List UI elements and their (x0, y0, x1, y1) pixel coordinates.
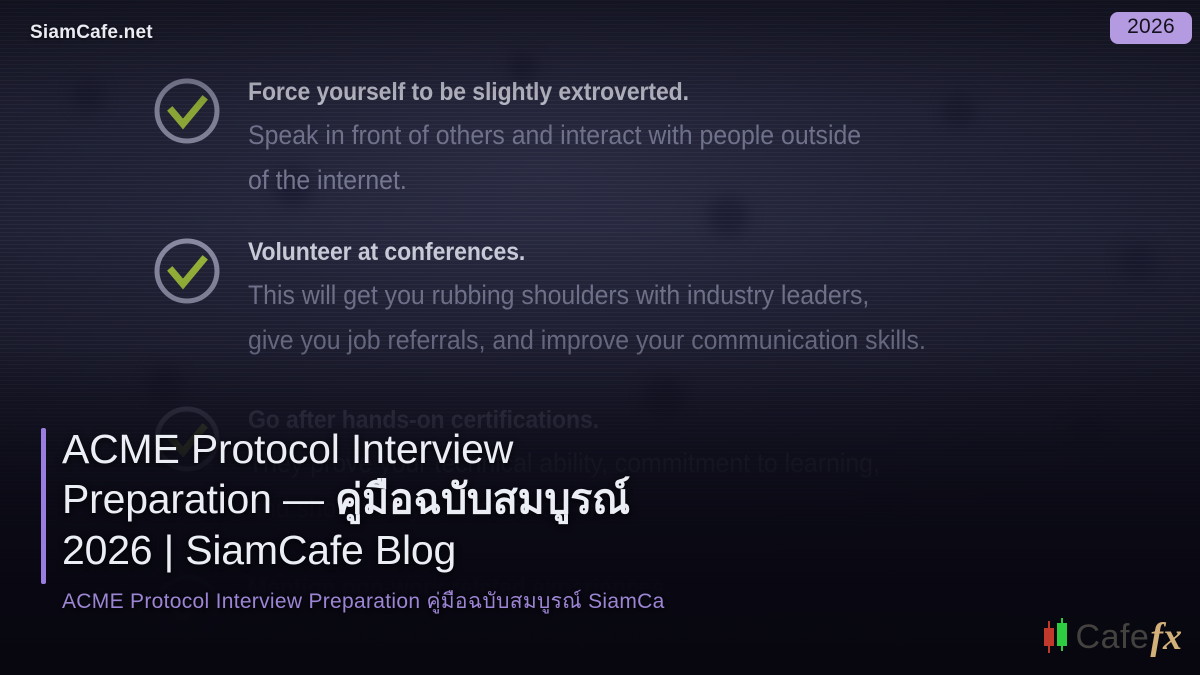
tip-text: Speak in front of others and interact wi… (248, 113, 861, 204)
title-line-2-prefix: Preparation — (62, 476, 335, 522)
title-line-1: ACME Protocol Interview (62, 426, 513, 472)
tip-text-line: give you job referrals, and improve your… (248, 318, 926, 363)
thumbnail-canvas: Force yourself to be slightly extroverte… (0, 0, 1200, 675)
title-line-3: 2026 | SiamCafe Blog (62, 527, 456, 573)
tip-text: If you don't have real-world experience,… (248, 609, 911, 675)
check-circle-icon (150, 74, 224, 148)
headline-block: ACME Protocol Interview Preparation — คู… (41, 424, 1051, 618)
title-line-2-thai: คู่มือฉบับสมบูรณ์ (335, 476, 630, 522)
tip-item: Volunteer at conferences. This will get … (150, 232, 985, 364)
tip-body: Volunteer at conferences. This will get … (248, 232, 985, 364)
candlestick-chart-icon (1041, 617, 1071, 657)
year-badge: 2026 (1110, 12, 1192, 44)
tip-text-line: of the internet. (248, 158, 861, 203)
site-name: SiamCafe.net (30, 22, 153, 44)
tip-text: This will get you rubbing shoulders with… (248, 273, 926, 364)
subtitle: ACME Protocol Interview Preparation คู่ม… (41, 585, 1051, 618)
page-title: ACME Protocol Interview Preparation — คู… (41, 424, 1051, 575)
tip-text-line: Speak in front of others and interact wi… (248, 113, 861, 158)
brand-name-fx: fx (1150, 618, 1182, 656)
tip-text-line: This will get you rubbing shoulders with… (248, 273, 926, 318)
brand-logo: Cafe fx (1041, 617, 1182, 657)
brand-name-cafe: Cafe (1076, 620, 1150, 654)
tip-heading: Force yourself to be slightly extroverte… (248, 78, 861, 107)
check-circle-icon (150, 234, 224, 308)
accent-bar (41, 428, 46, 584)
tip-item: Force yourself to be slightly extroverte… (150, 72, 914, 204)
tip-text-line: GitHub, Hack The Box experience, or any … (248, 654, 911, 675)
tip-body: Force yourself to be slightly extroverte… (248, 72, 914, 204)
tip-heading: Volunteer at conferences. (248, 238, 926, 267)
